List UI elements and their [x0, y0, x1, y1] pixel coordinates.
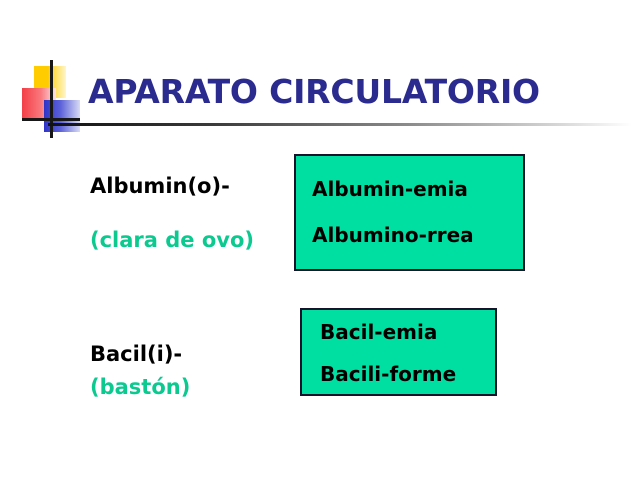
derivative-box-albumin: Albumin-emia Albumino-rrea — [294, 154, 525, 271]
page-title: APARATO CIRCULATORIO — [88, 74, 540, 110]
term-gloss-bacil: (bastón) — [90, 375, 190, 399]
title-divider — [48, 123, 632, 126]
derivative-box-bacil: Bacil-emia Bacili-forme — [300, 308, 497, 396]
decorative-logo-mark — [22, 60, 80, 138]
derivative-item: Bacili-forme — [320, 363, 456, 385]
term-label-bacil: Bacil(i)- — [90, 342, 182, 366]
slide-canvas: APARATO CIRCULATORIO Albumin(o)- (clara … — [0, 0, 640, 480]
derivative-item: Albumin-emia — [312, 178, 468, 200]
term-label-albumin: Albumin(o)- — [90, 174, 230, 198]
logo-vertical-line-icon — [50, 60, 53, 138]
derivative-item: Albumino-rrea — [312, 224, 474, 246]
logo-horizontal-line-icon — [22, 118, 80, 121]
term-gloss-albumin: (clara de ovo) — [90, 228, 254, 252]
derivative-item: Bacil-emia — [320, 321, 437, 343]
